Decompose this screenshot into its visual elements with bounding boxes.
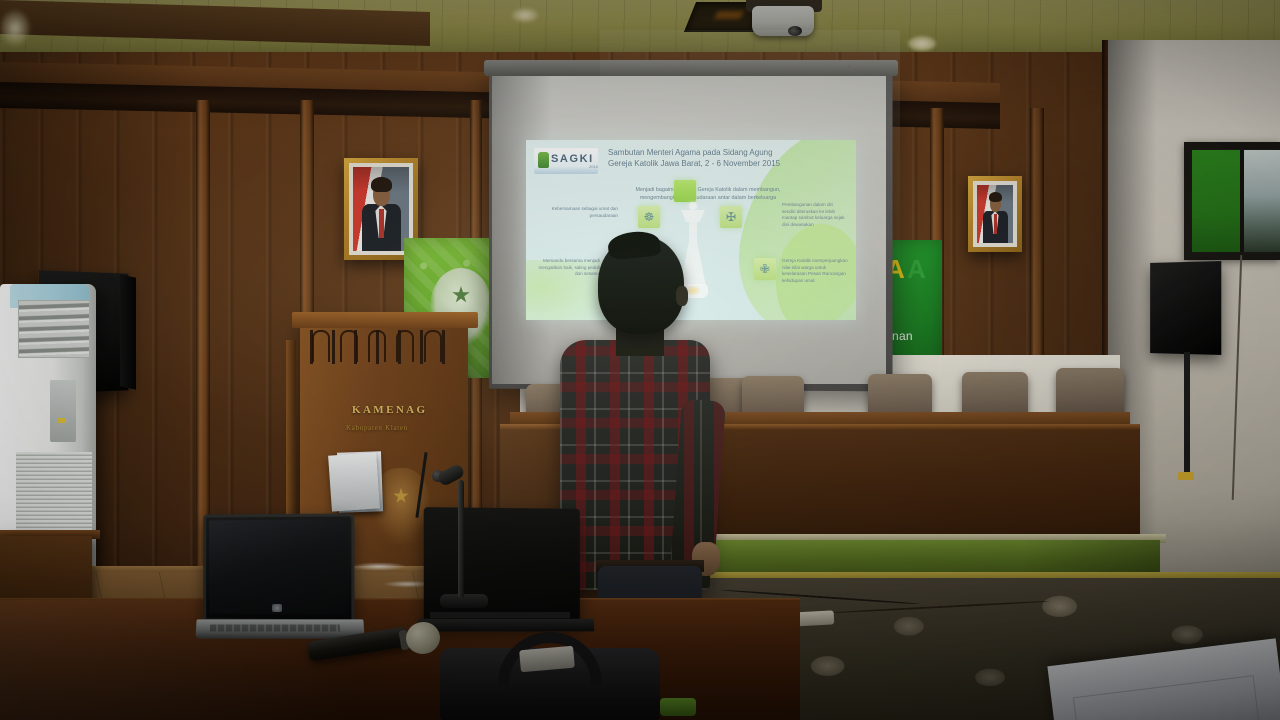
ceiling-projector-icon	[752, 6, 814, 36]
window-pane-outside	[1244, 150, 1280, 252]
gooseneck-microphone-base	[440, 594, 488, 608]
portrait-tie	[994, 214, 997, 234]
chess-crown	[681, 210, 705, 222]
window-mullion	[1240, 150, 1244, 252]
laptop-base	[418, 619, 595, 632]
chess-neck	[689, 222, 697, 242]
portrait-photo	[977, 185, 1013, 243]
slide-title: Sambutan Menteri Agama pada Sidang Agung…	[608, 147, 798, 169]
speaker-stand	[1184, 352, 1190, 472]
power-led-icon	[58, 418, 66, 423]
chess-glow	[686, 286, 700, 295]
window-pane-green	[1192, 150, 1244, 252]
cross-icon: ✠	[724, 210, 738, 224]
screen-brand-label: ·	[848, 64, 850, 70]
podium-arch	[396, 330, 414, 362]
portrait-tie	[379, 209, 384, 238]
slide-chip	[674, 180, 696, 202]
chess-head	[689, 202, 697, 210]
podium-arch	[368, 330, 386, 362]
podium-venue-label: KAMENAG	[352, 404, 427, 416]
gooseneck-microphone-stem	[458, 480, 464, 598]
slide-note: Kebersamaan sebagai umat dan persaudaraa…	[548, 206, 618, 219]
ceiling-vent-glow	[714, 11, 743, 19]
slide-subtitle: Menjadi bagaimana umat Gereja Katolik da…	[618, 186, 798, 202]
laptop-keyboard[interactable]	[210, 625, 340, 632]
slide-note: Memandu bersama menjadi mengaitkan baik,…	[538, 258, 600, 278]
recessed-ceiling-light	[908, 36, 936, 51]
slide-chip: ☸	[638, 206, 660, 228]
portrait-hair	[989, 192, 1002, 202]
sagki-logo-year: 2015	[589, 164, 598, 169]
podium-arch	[312, 330, 330, 362]
bag-tag	[519, 646, 575, 673]
conference-room-photo: A A anan · SAGKI 2015 Sambutan Menteri A…	[0, 0, 1280, 720]
projector-lens-icon	[788, 26, 802, 36]
vice-presidential-portrait	[968, 176, 1022, 252]
banner-letter: A	[907, 256, 925, 282]
slide-chip: ✙	[754, 258, 776, 280]
projected-slide: SAGKI 2015 Sambutan Menteri Agama pada S…	[526, 140, 856, 320]
portrait-hair	[371, 177, 391, 192]
presenter-ear	[676, 286, 688, 306]
projection-screen-casing	[484, 60, 898, 76]
podium-arch	[424, 330, 442, 362]
portrait-photo	[353, 167, 409, 251]
hp-logo-icon	[272, 604, 282, 612]
slide-note: Pembangunan dalam diri sendiri diteruska…	[782, 202, 846, 228]
slide-chip: ✠	[720, 206, 742, 228]
laptop-hinge	[430, 612, 570, 618]
speaker-stand-clamp	[1178, 472, 1194, 480]
podium-top	[292, 312, 478, 328]
podium-venue-sublabel: Kabupaten Klaten	[346, 424, 408, 433]
podium-arch	[340, 330, 358, 362]
white-equipment-box	[328, 452, 380, 511]
cross-icon: ✙	[758, 262, 772, 276]
portrait-mat	[973, 181, 1017, 247]
circle-icon: ☸	[642, 210, 656, 224]
speaker-left-side	[120, 274, 136, 389]
recessed-ceiling-light	[0, 10, 30, 46]
sagki-logo-icon	[538, 152, 549, 168]
recessed-ceiling-light	[512, 8, 538, 22]
sagki-logo-text: SAGKI	[551, 153, 594, 165]
air-conditioner-louvers	[18, 300, 90, 358]
green-clip	[660, 698, 696, 716]
speaker-right	[1150, 261, 1221, 355]
slide-note: Gereja Katolik memperjuangkan nilai-nila…	[782, 258, 848, 284]
laptop-screen[interactable]	[209, 520, 348, 615]
air-conditioner-panel[interactable]	[50, 380, 76, 442]
